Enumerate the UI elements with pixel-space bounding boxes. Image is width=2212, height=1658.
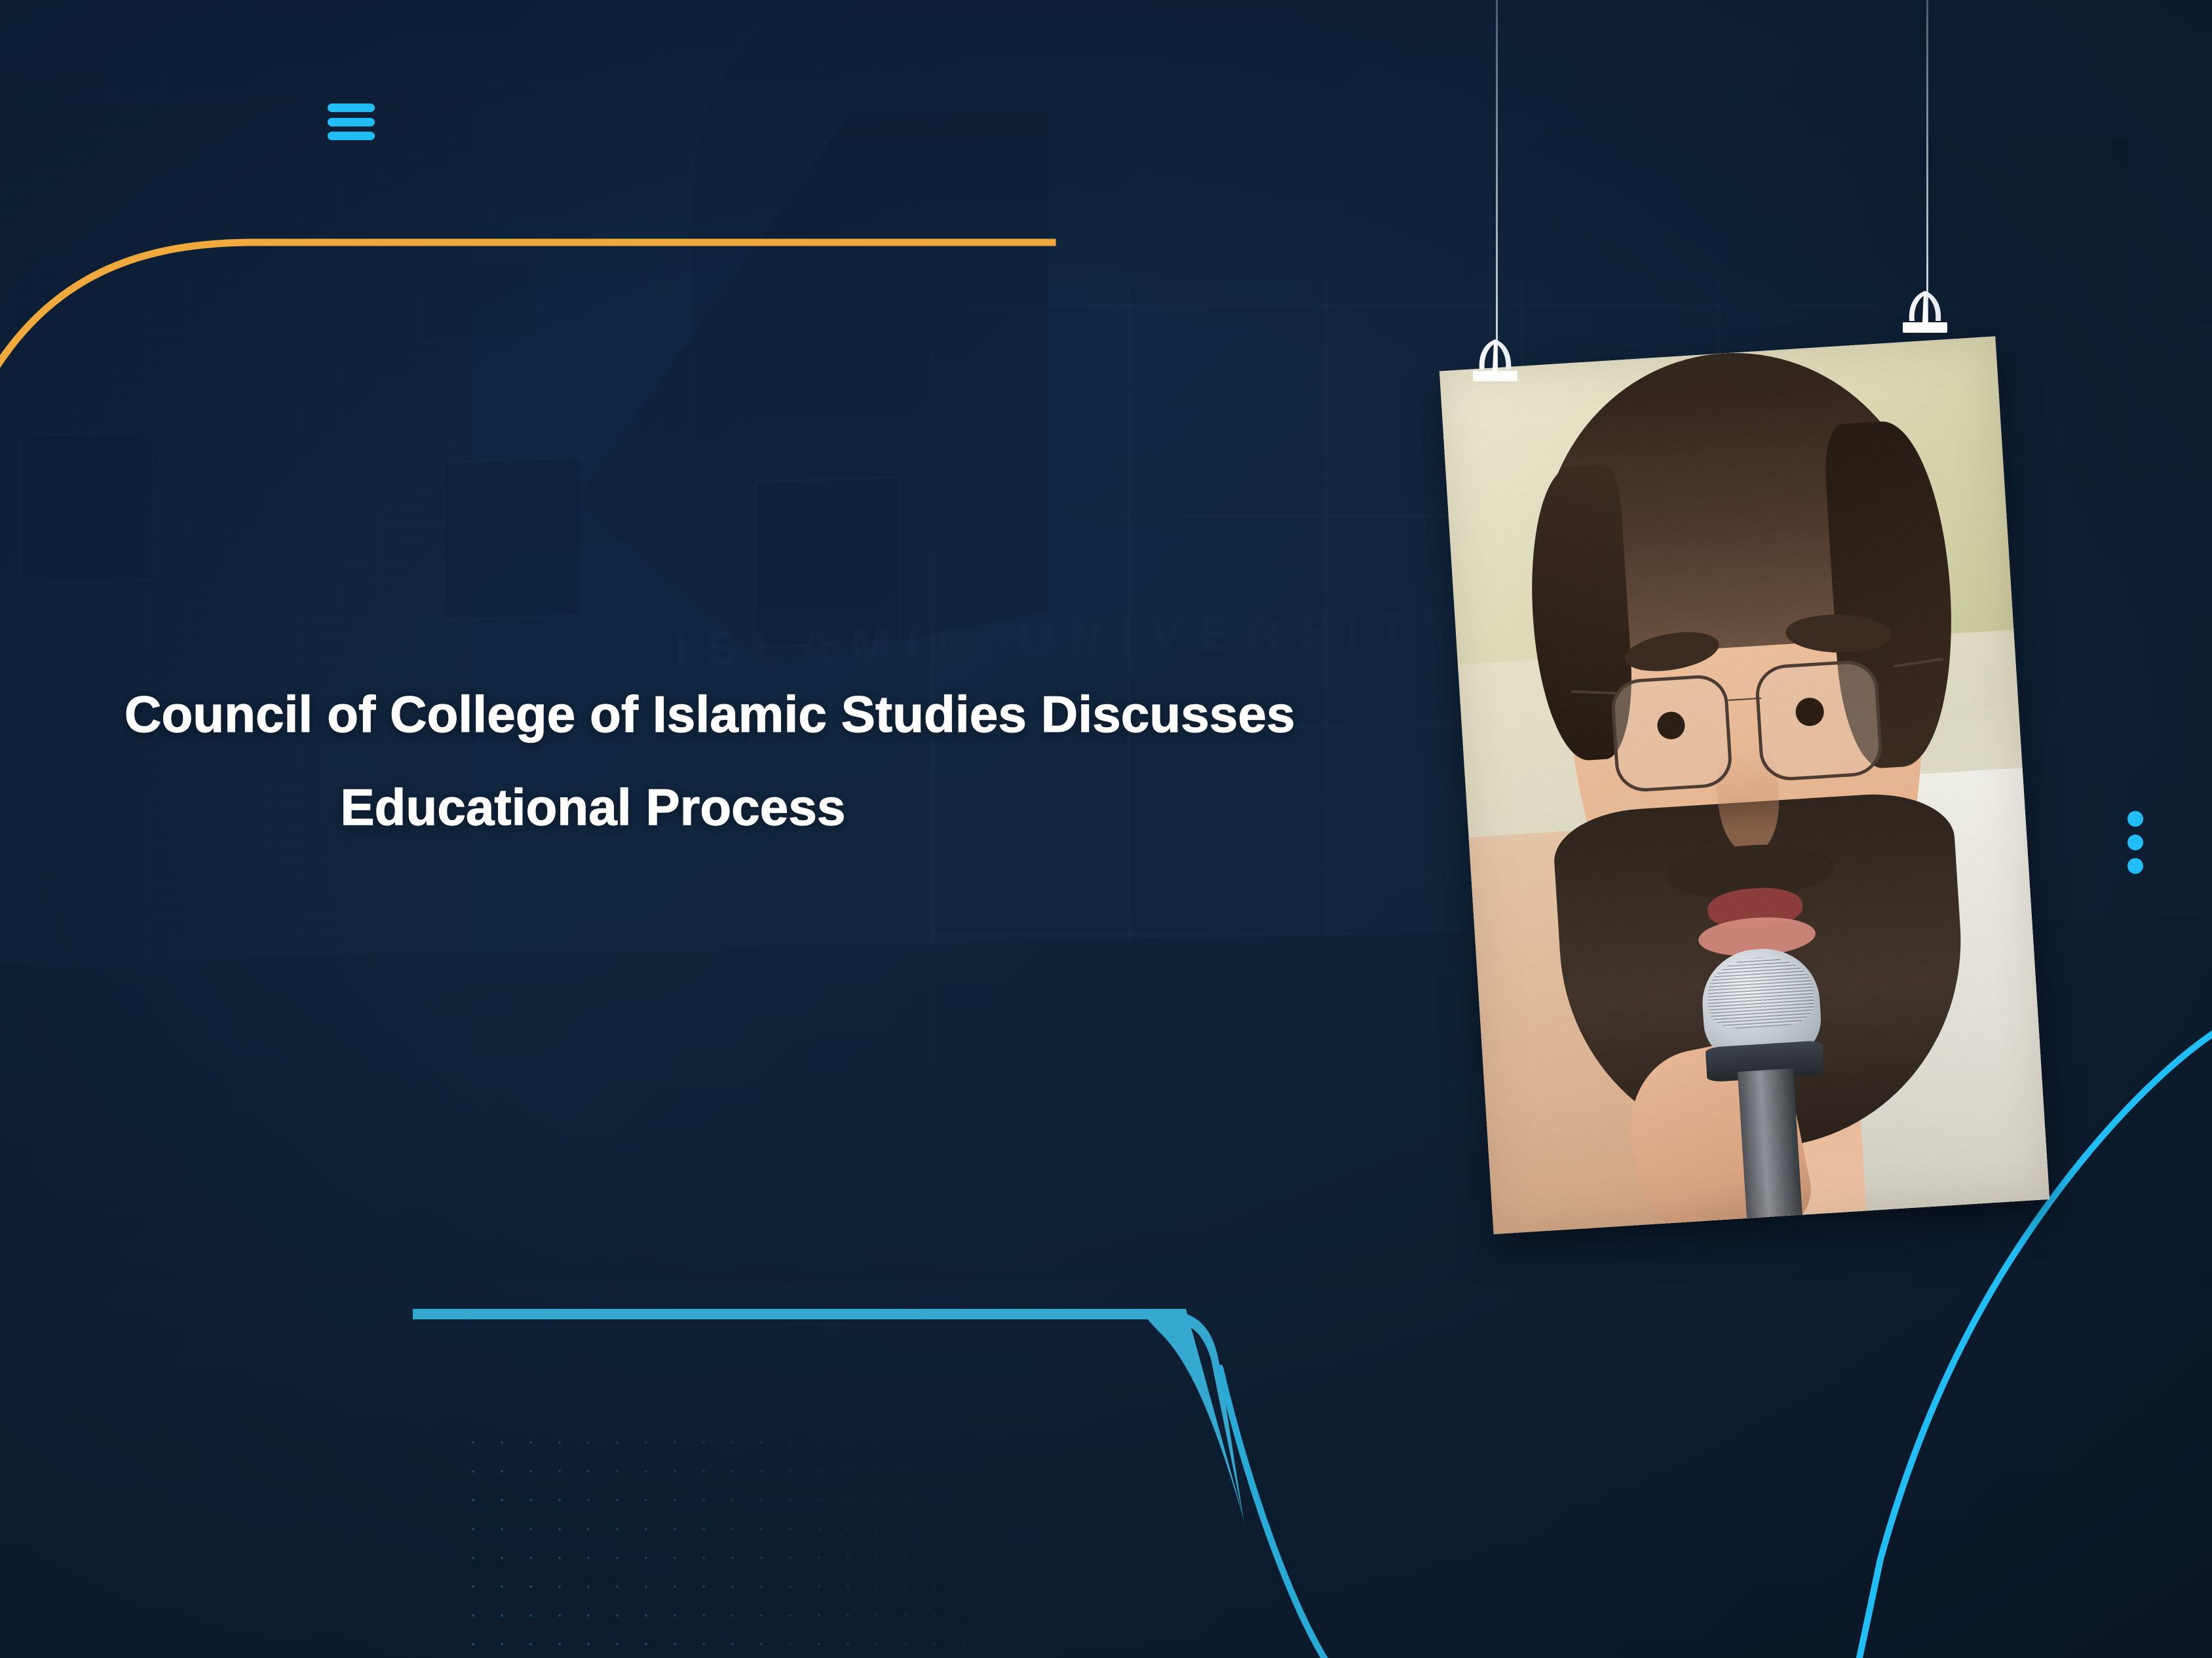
hamburger-bar-2: [328, 118, 375, 126]
hanging-string-left: [1496, 0, 1498, 380]
page-title: Council of College of Islamic Studies Di…: [124, 668, 1428, 854]
hamburger-bar-1: [328, 104, 375, 112]
photo-print: [1440, 336, 2050, 1234]
kebab-dot-2: [2127, 835, 2143, 850]
kebab-dot-1: [2127, 811, 2143, 827]
hamburger-menu-icon[interactable]: [328, 104, 375, 140]
kebab-dot-3: [2127, 858, 2143, 874]
slide-canvas: ISLAMIC UNIVERSITY OF Council of College…: [0, 0, 2212, 1658]
page-title-line-1: Council of College of Islamic Studies Di…: [124, 668, 1428, 761]
kebab-menu-icon[interactable]: [2127, 811, 2144, 874]
page-title-line-2: Educational Process: [124, 761, 1428, 854]
hamburger-bar-3: [328, 132, 375, 140]
halftone-dot-field: [459, 1428, 1114, 1658]
hanging-string-right: [1926, 0, 1928, 328]
photo-vignette: [1440, 336, 2050, 1234]
binder-clip-right: [1895, 288, 1955, 343]
hanging-photo[interactable]: [1440, 336, 2050, 1234]
binder-clip-left: [1465, 337, 1525, 392]
